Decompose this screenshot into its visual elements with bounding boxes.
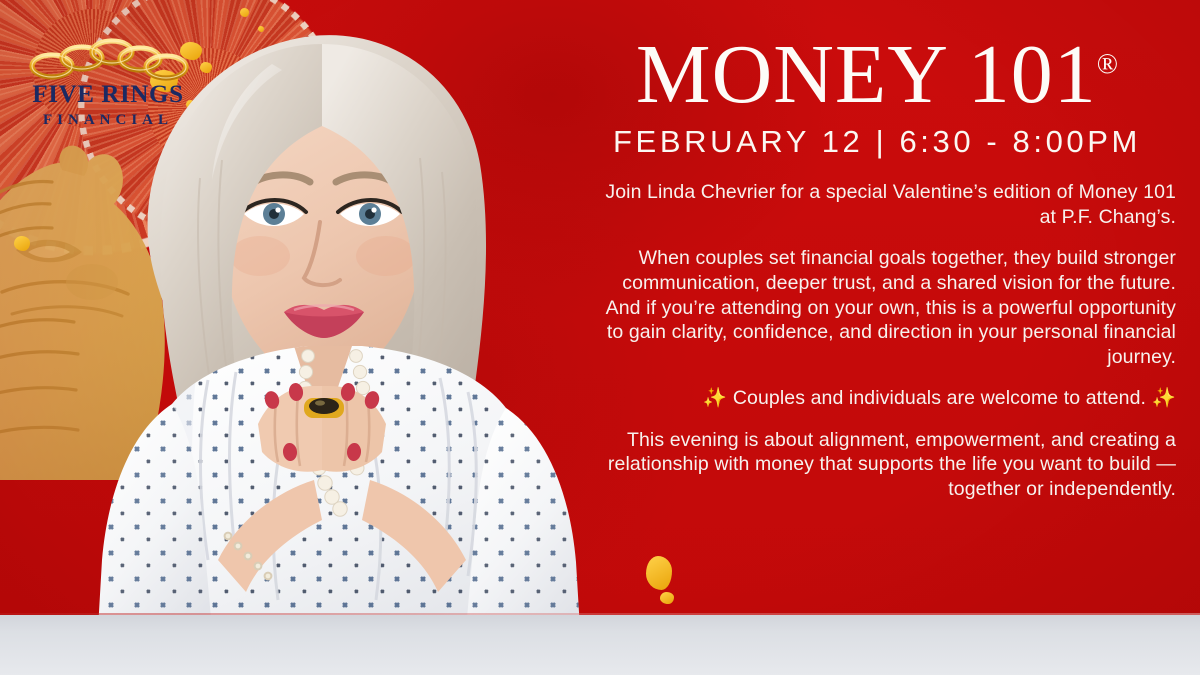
- flyer-content: MONEY 101® FEBRUARY 12 | 6:30 - 8:00PM J…: [578, 34, 1176, 502]
- sparkle-icon-right: ✨: [1152, 387, 1176, 409]
- speaker-portrait: [22, 0, 642, 629]
- title-text: MONEY 101: [636, 28, 1097, 121]
- clasped-hands: [258, 382, 386, 472]
- cocktail-ring: [304, 398, 344, 418]
- intro-paragraph: Join Linda Chevrier for a special Valent…: [586, 180, 1176, 229]
- body-copy: Join Linda Chevrier for a special Valent…: [578, 180, 1176, 501]
- gold-confetti: [646, 556, 672, 590]
- event-datetime: FEBRUARY 12 | 6:30 - 8:00PM: [578, 124, 1176, 160]
- closing-paragraph: This evening is about alignment, empower…: [586, 428, 1176, 502]
- gold-confetti: [660, 592, 674, 604]
- main-paragraph: When couples set financial goals togethe…: [586, 246, 1176, 369]
- sparkle-icon-left: ✨: [703, 387, 727, 409]
- table-surface: [0, 615, 1200, 675]
- registered-trademark-icon: ®: [1097, 49, 1118, 80]
- event-flyer: FIVE RINGS FINANCIAL: [0, 0, 1200, 675]
- welcome-note: ✨ Couples and individuals are welcome to…: [586, 386, 1176, 411]
- welcome-note-text: Couples and individuals are welcome to a…: [733, 387, 1146, 409]
- page-title: MONEY 101®: [578, 34, 1176, 116]
